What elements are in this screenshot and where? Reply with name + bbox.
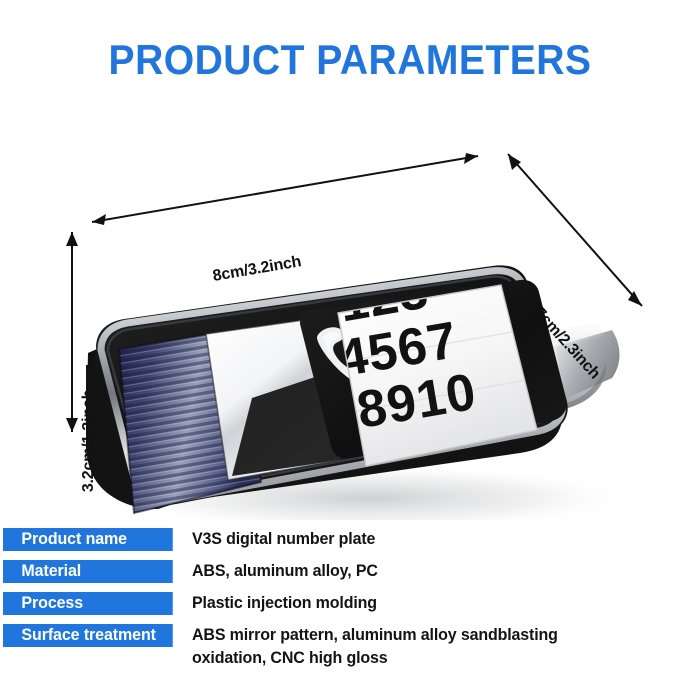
product-illustration-svg: 123 4567 8910 bbox=[0, 110, 700, 520]
spec-row-surface-treatment: Surface treatment ABS mirror pattern, al… bbox=[0, 624, 700, 670]
spec-value-material: ABS, aluminum alloy, PC bbox=[192, 560, 685, 583]
product-image: 123 4567 8910 bbox=[0, 110, 700, 520]
width-dimension-arrow bbox=[92, 153, 478, 225]
spec-value-surface-treatment: ABS mirror pattern, aluminum alloy sandb… bbox=[192, 624, 685, 670]
spec-value-line: ABS, aluminum alloy, PC bbox=[192, 562, 378, 580]
spec-row-product-name: Product name V3S digital number plate bbox=[0, 528, 700, 551]
spec-value-line: ABS mirror pattern, aluminum alloy sandb… bbox=[192, 626, 558, 644]
height-dimension-arrow bbox=[66, 232, 78, 432]
page-title: PRODUCT PARAMETERS bbox=[25, 35, 676, 85]
spec-key-material: Material bbox=[3, 560, 173, 583]
spec-row-material: Material ABS, aluminum alloy, PC bbox=[0, 560, 700, 583]
height-dimension-label: 3.2cm/1.3inch bbox=[80, 390, 98, 492]
spec-key-process: Process bbox=[3, 592, 173, 615]
spec-value-line: V3S digital number plate bbox=[192, 530, 375, 548]
spec-value-product-name: V3S digital number plate bbox=[192, 528, 685, 551]
spec-value-process: Plastic injection molding bbox=[192, 592, 685, 615]
spec-value-line: Plastic injection molding bbox=[192, 594, 377, 612]
spec-key-surface-treatment: Surface treatment bbox=[3, 624, 173, 647]
spec-value-line: oxidation, CNC high gloss bbox=[192, 647, 656, 670]
spec-row-process: Process Plastic injection molding bbox=[0, 592, 700, 615]
spec-table: Product name V3S digital number plate Ma… bbox=[0, 528, 700, 679]
spec-key-product-name: Product name bbox=[3, 528, 173, 551]
